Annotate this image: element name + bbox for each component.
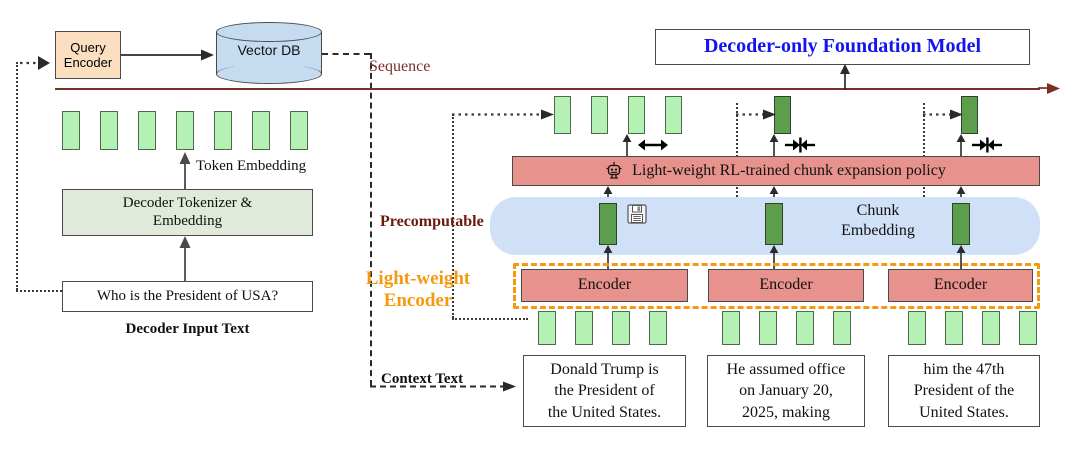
- vector-db-label: Vector DB: [216, 42, 322, 58]
- db-to-context-dash-h: [322, 53, 370, 55]
- robot-icon: [606, 162, 622, 180]
- decoder-input-text: Who is the President of USA?: [97, 288, 278, 306]
- feedback-arrowhead: [20, 52, 54, 74]
- tokenizer-label-line1: Decoder Tokenizer &: [123, 195, 252, 213]
- foundation-model-label: Decoder-only Foundation Model: [704, 35, 981, 59]
- context-token: [575, 311, 593, 345]
- context-chunk-box[interactable]: Donald Trump is the President of the Uni…: [523, 355, 686, 427]
- decoder-token: [62, 111, 80, 150]
- encoder-label: Encoder: [578, 276, 631, 295]
- context-chunk-box[interactable]: him the 47th President of the United Sta…: [888, 355, 1040, 427]
- context-token: [538, 311, 556, 345]
- decoder-token: [252, 111, 270, 150]
- encoder-box[interactable]: Encoder: [521, 269, 688, 302]
- sequence-arrowhead: [1038, 81, 1064, 96]
- lightweight-encoder-label-line1: Light-weight: [338, 268, 498, 290]
- chunk-embedding-label-line2: Embedding: [818, 221, 938, 241]
- context-chunk-box[interactable]: He assumed office on January 20, 2025, m…: [707, 355, 865, 427]
- chunk-text-line: Donald Trump is: [550, 359, 658, 380]
- foundation-model-box[interactable]: Decoder-only Foundation Model: [655, 29, 1030, 65]
- sequence-token-light: [591, 96, 608, 134]
- floppy-disk-icon: [627, 204, 647, 224]
- vector-db-top: [216, 22, 322, 42]
- chunk3-dotted-arrow: [923, 107, 965, 122]
- token-embedding-label: Token Embedding: [196, 158, 306, 175]
- tokenizer-to-tokens-arrow: [178, 152, 192, 190]
- context-token: [908, 311, 926, 345]
- chunk1-expand-dotted-arrow: [452, 107, 556, 122]
- query-encoder-box[interactable]: Query Encoder: [55, 31, 121, 79]
- db-to-context-dash-v: [370, 53, 372, 386]
- lightweight-encoder-group-label: Light-weight Encoder: [338, 268, 498, 313]
- encoder-label: Encoder: [934, 276, 987, 295]
- decoder-tokenizer-box[interactable]: Decoder Tokenizer & Embedding: [62, 189, 313, 236]
- tokenizer-label-line2: Embedding: [153, 213, 222, 231]
- decoder-token: [176, 111, 194, 150]
- decoder-token: [214, 111, 232, 150]
- query-to-db-arrow: [121, 48, 216, 62]
- diagram-canvas: Query Encoder Vector DB Sequence Token E…: [0, 0, 1080, 458]
- expand-arrows-icon: [638, 137, 668, 153]
- decoder-token: [138, 111, 156, 150]
- chunk-embedding-token: [765, 203, 783, 245]
- decoder-token: [100, 111, 118, 150]
- collapse-arrows-icon: [785, 137, 815, 153]
- decoder-input-text-box[interactable]: Who is the President of USA?: [62, 281, 313, 312]
- lightweight-encoder-label-line2: Encoder: [338, 290, 498, 312]
- chunk-embedding-label-line1: Chunk: [818, 201, 938, 221]
- context-token: [759, 311, 777, 345]
- encoder-box[interactable]: Encoder: [888, 269, 1033, 302]
- chunk-text-line: He assumed office: [727, 359, 846, 380]
- encoder-label: Encoder: [759, 276, 812, 295]
- policy-label: Light-weight RL-trained chunk expansion …: [632, 162, 946, 181]
- context-token: [796, 311, 814, 345]
- chunk-embedding-label: Chunk Embedding: [818, 201, 938, 241]
- chunk-text-line: President of the: [914, 380, 1014, 401]
- context-token: [982, 311, 1000, 345]
- chunk-embedding-token: [952, 203, 970, 245]
- sequence-token-light: [665, 96, 682, 134]
- context-token: [612, 311, 630, 345]
- encoder-box[interactable]: Encoder: [708, 269, 864, 302]
- sequence-token-light: [554, 96, 571, 134]
- chunk-text-line: 2025, making: [742, 402, 830, 423]
- sequence-line: [55, 88, 1040, 90]
- policy-to-chunk3-arrow: [955, 134, 967, 156]
- sequence-token-light: [628, 96, 645, 134]
- chunk-text-line: United States.: [919, 402, 1009, 423]
- context-token: [945, 311, 963, 345]
- context-token: [722, 311, 740, 345]
- chunk-text-line: him the 47th: [924, 359, 1005, 380]
- policy-to-chunk2-arrow: [768, 134, 780, 156]
- sequence-to-model-arrow: [838, 64, 852, 90]
- query-encoder-label-line1: Query: [70, 40, 105, 55]
- chunk-expansion-policy-bar[interactable]: Light-weight RL-trained chunk expansion …: [512, 156, 1040, 186]
- context-text-caption: Context Text: [381, 371, 463, 388]
- context-token: [833, 311, 851, 345]
- query-encoder-label-line2: Encoder: [64, 55, 112, 70]
- policy-to-chunk1-arrow: [621, 134, 633, 156]
- decoder-input-caption: Decoder Input Text: [62, 321, 313, 338]
- sequence-label: Sequence: [369, 58, 430, 76]
- vector-db-bottom: [216, 64, 322, 84]
- chunk-text-line: on January 20,: [739, 380, 833, 401]
- decoder-token: [290, 111, 308, 150]
- precomputable-label: Precomputable: [380, 213, 484, 231]
- collapse-arrows-icon: [972, 137, 1002, 153]
- chunk-text-line: the President of: [554, 380, 654, 401]
- chunk2-dotted-arrow: [736, 107, 778, 122]
- chunk-text-line: the United States.: [548, 402, 661, 423]
- context-token: [1019, 311, 1037, 345]
- input-to-tokenizer-arrow: [178, 236, 192, 281]
- chunk-embedding-token: [599, 203, 617, 245]
- context-token: [649, 311, 667, 345]
- feedback-dotted-line-left: [16, 62, 18, 290]
- chunk1-expand-dotted-h-bottom: [452, 318, 528, 320]
